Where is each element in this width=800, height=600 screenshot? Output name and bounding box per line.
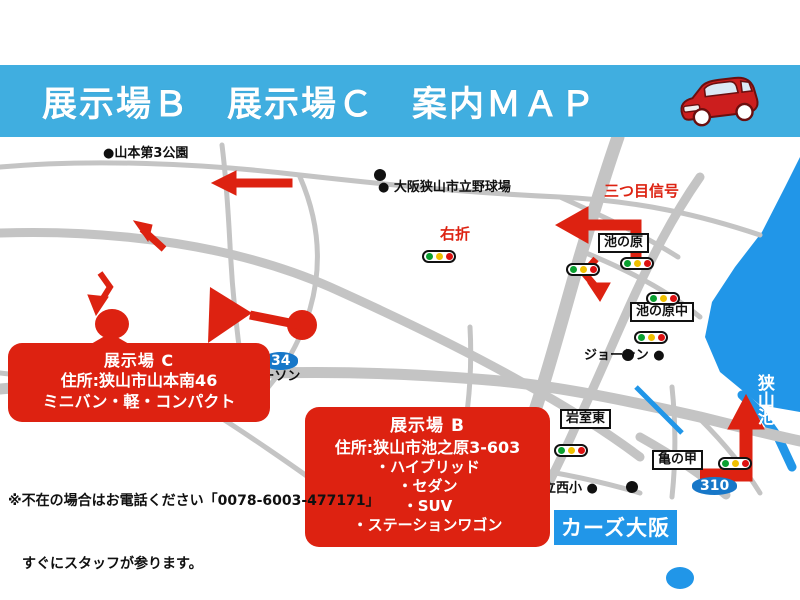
traffic-signal-kamenoko [718,457,752,470]
footer-line-2: すぐにスタッフが参ります。 [8,554,380,575]
footer-line-1: ※不在の場合はお電話ください「0078-6003-477171」 [8,491,380,512]
traffic-signal-turnright [422,250,456,263]
traffic-signal-west [566,263,600,276]
boxed-label-iwamurohigashi: 岩室東 [560,409,611,429]
traffic-signal-ikenoharanaka-lower [634,331,668,344]
destination-label-cars-osaka: カーズ大阪 [554,510,677,545]
lake-label-sayama-pond: 狭山池 [753,374,773,430]
callout-showroom-c: 展示場 C 住所:狭山市山本南46 ミニバン・軽・コンパクト [8,343,270,422]
red-label-turn-right: 右折 [440,223,470,244]
destination-dot [666,567,694,589]
boxed-label-kamenoko: 亀の甲 [652,450,703,470]
red-label-third-signal: 三つ目信号 [604,180,679,201]
traffic-signal-ikenoharanaka-upper [646,292,680,305]
callout-b-title: 展示場 B [311,416,544,438]
red-car-icon [673,74,765,128]
map-page: 展示場Ｂ 展示場Ｃ 案内ＭＡＰ [0,0,800,600]
poi-dot-stadium [374,169,386,181]
poi-dot-joshin [622,349,634,361]
callout-c-title: 展示場 C [14,351,264,371]
boxed-label-ikenoharanaka: 池の原中 [630,302,694,322]
callout-c-types: ミニバン・軽・コンパクト [14,392,264,412]
poi-label-yamamoto-park: ●山本第3公園 [103,142,188,161]
poi-dot-nishi-elementary [626,481,638,493]
footer-notes: ※不在の場合はお電話ください「0078-6003-477171」 すぐにスタッフ… [8,450,380,600]
header-banner: 展示場Ｂ 展示場Ｃ 案内ＭＡＰ [0,65,800,137]
callout-c-address: 住所:狭山市山本南46 [14,371,264,391]
showroom-b-leader [208,287,317,343]
road-ns-bottom [672,387,675,497]
boxed-label-ikenohara: 池の原 [598,233,649,253]
route-shield-310: 310 [692,477,737,495]
traffic-signal-ikenohara [620,257,654,270]
poi-label-baseball-stadium: ● 大阪狭山市立野球場 [378,176,511,195]
traffic-signal-east [554,444,588,457]
page-title: 展示場Ｂ 展示場Ｃ 案内ＭＡＰ [42,76,597,127]
